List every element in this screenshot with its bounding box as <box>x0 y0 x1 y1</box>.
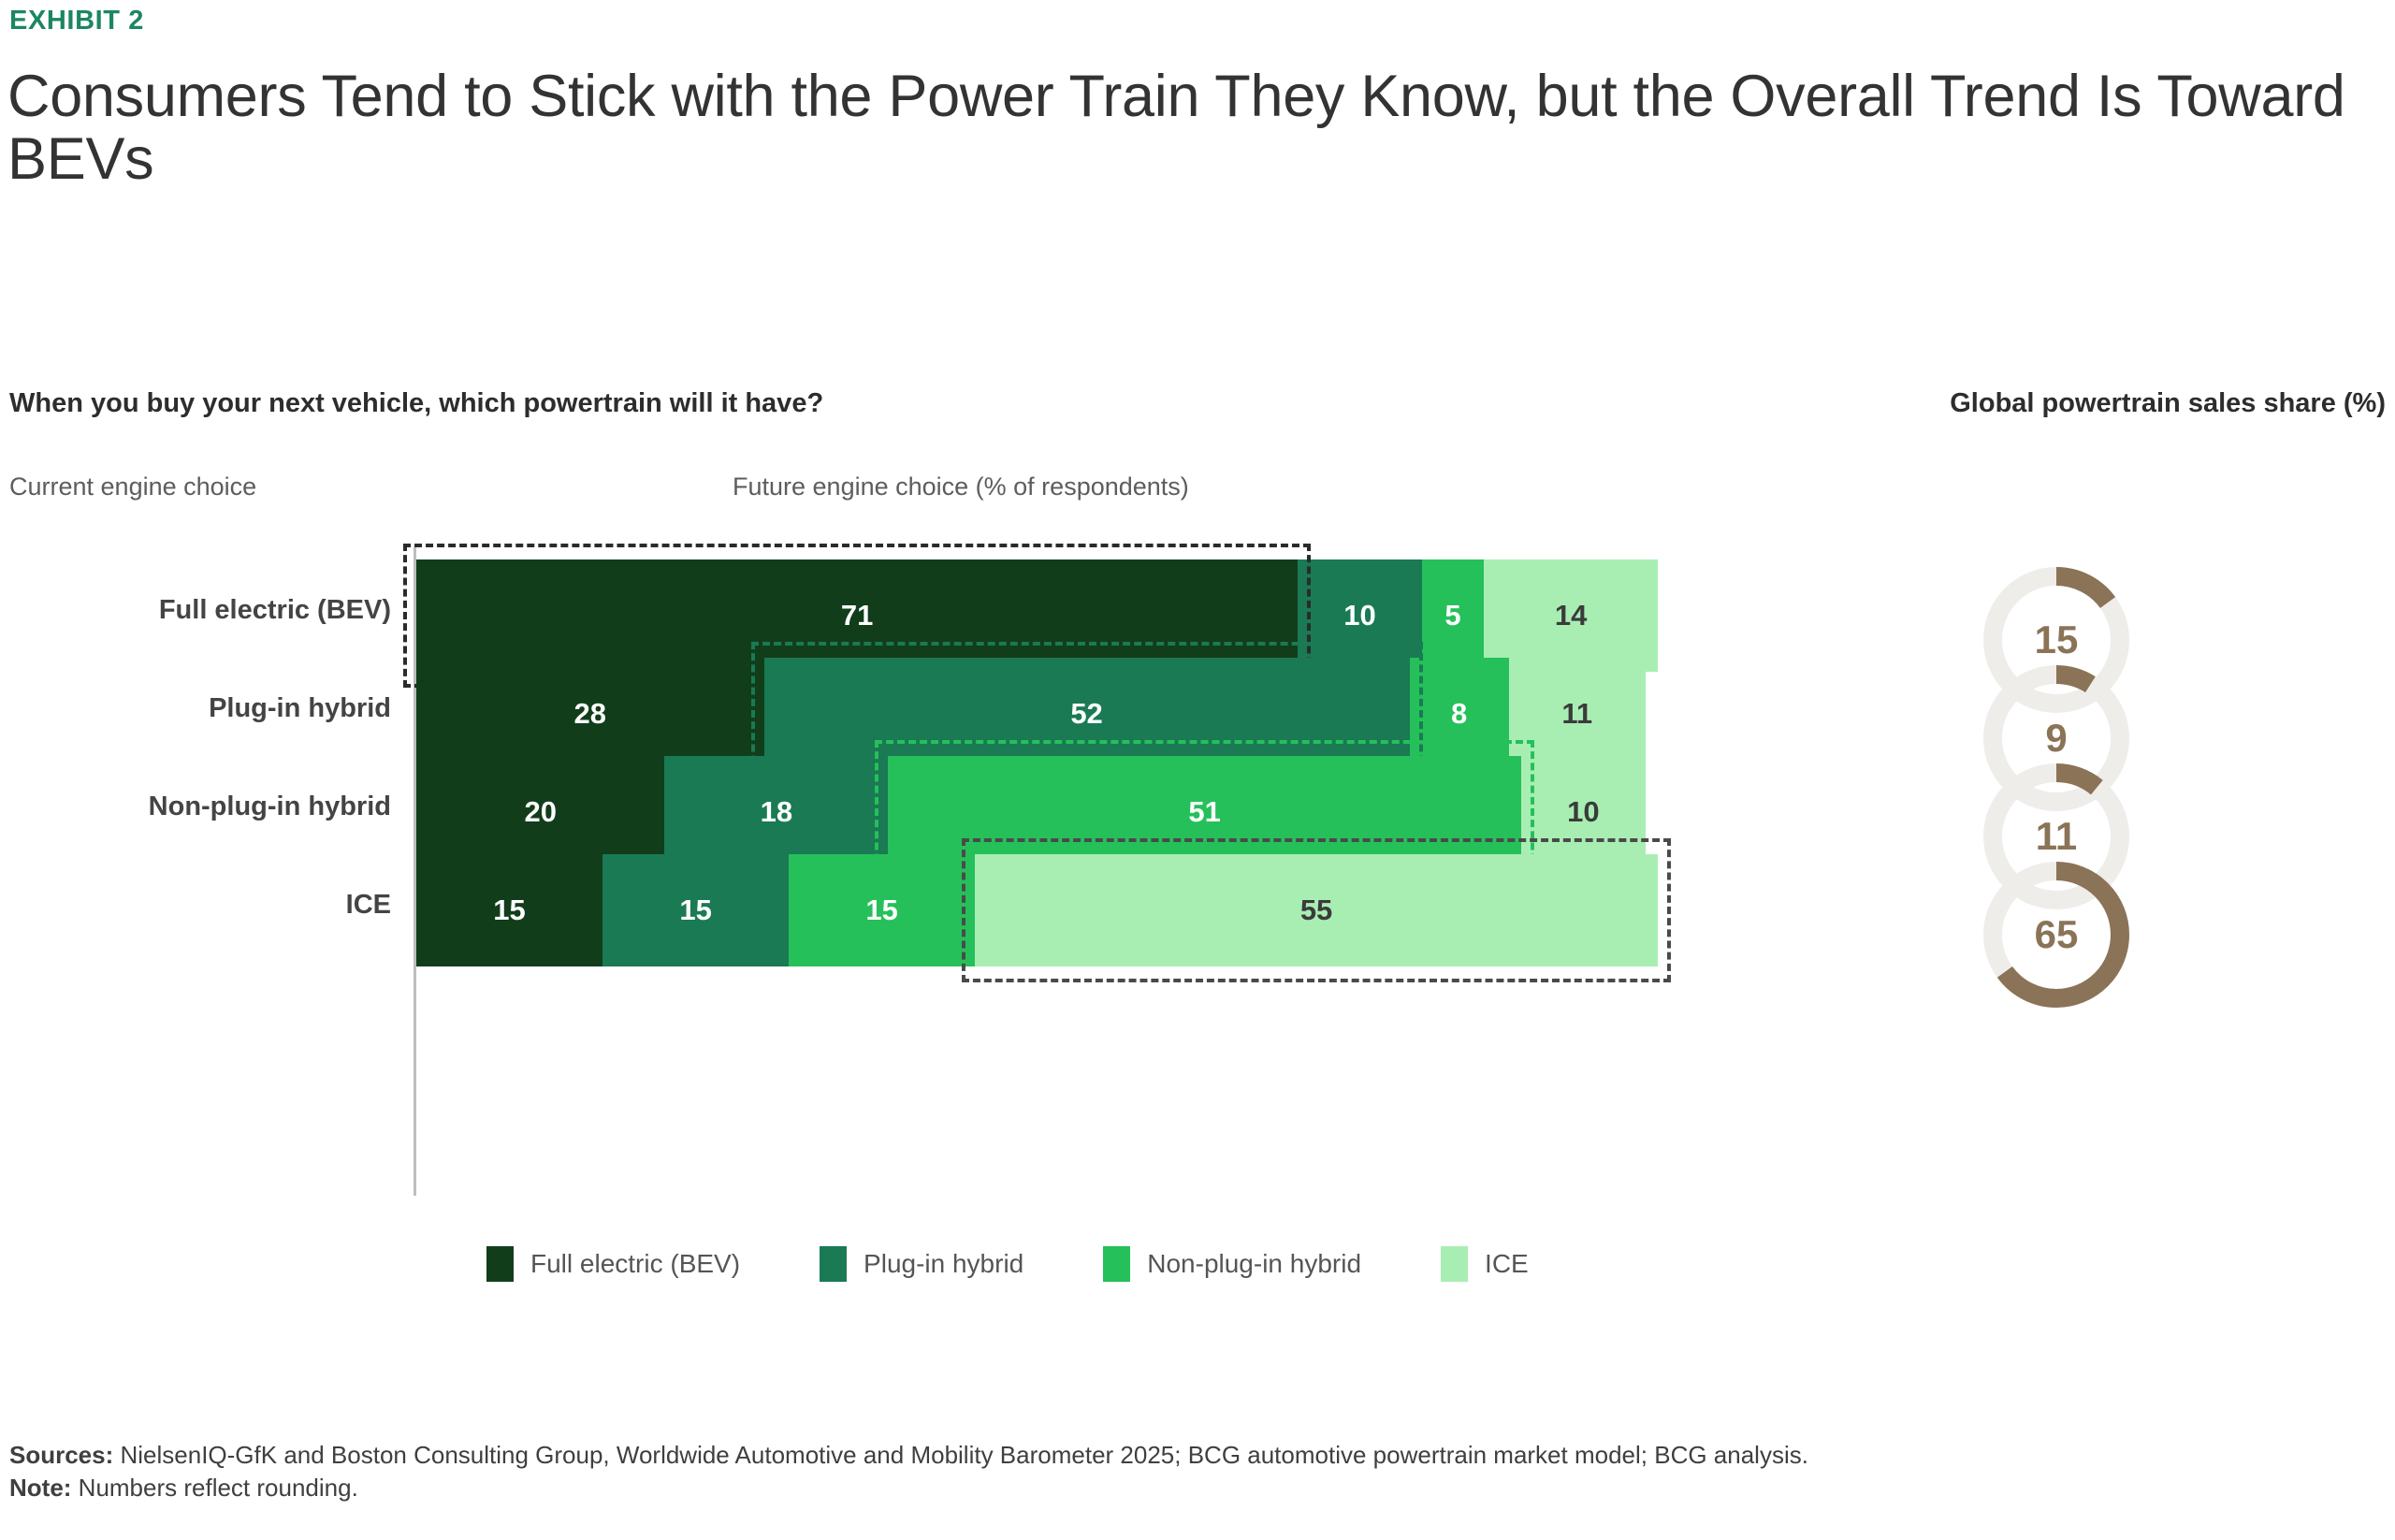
legend-label: Non-plug-in hybrid <box>1147 1249 1361 1279</box>
exhibit-label: EXHIBIT 2 <box>9 6 144 36</box>
bar-segment-value: 20 <box>524 795 556 829</box>
bar-segment-phev[interactable]: 52 <box>764 658 1410 770</box>
legend-swatch-icon <box>1441 1246 1468 1282</box>
bar-segment-ice[interactable]: 11 <box>1509 658 1646 770</box>
legend-swatch-icon <box>1103 1246 1130 1282</box>
bar-segment-value: 15 <box>679 893 711 927</box>
bar-segment-value: 52 <box>1070 697 1102 731</box>
bar-segment-value: 10 <box>1567 795 1599 829</box>
donut-value-label: 65 <box>1976 854 2137 1015</box>
bar-row: Plug-in hybrid2852811 <box>0 658 1778 770</box>
bar-segment-value: 14 <box>1555 599 1587 632</box>
bar-track: 15151555 <box>416 854 1658 966</box>
bar-segment-value: 28 <box>574 697 606 731</box>
donut-chart-4: 65 <box>1976 854 2137 1015</box>
legend-item-hev[interactable]: Non-plug-in hybrid <box>1103 1246 1361 1282</box>
sources-text: NielsenIQ-GfK and Boston Consulting Grou… <box>113 1441 1808 1469</box>
bar-segment-ice[interactable]: 55 <box>975 854 1658 966</box>
right-panel-heading: Global powertrain sales share (%) <box>1950 388 2386 419</box>
note-label: Note: <box>9 1474 71 1502</box>
bar-segment-hev[interactable]: 15 <box>789 854 975 966</box>
legend-item-phev[interactable]: Plug-in hybrid <box>820 1246 1023 1282</box>
legend-label: Full electric (BEV) <box>530 1249 740 1279</box>
bar-row-label: ICE <box>346 890 391 921</box>
global-sales-share-donuts: 1591165 <box>1955 543 2180 1198</box>
bar-track: 7110514 <box>416 559 1658 672</box>
footnotes: Sources: NielsenIQ-GfK and Boston Consul… <box>9 1439 2386 1504</box>
sources-label: Sources: <box>9 1441 113 1469</box>
bar-segment-ice[interactable]: 10 <box>1521 756 1646 868</box>
legend-item-ice[interactable]: ICE <box>1441 1246 1529 1282</box>
legend-swatch-icon <box>486 1246 514 1282</box>
bar-segment-ice[interactable]: 14 <box>1484 559 1658 672</box>
bar-segment-value: 15 <box>493 893 525 927</box>
bar-row-label: Full electric (BEV) <box>159 595 391 626</box>
bar-segment-value: 18 <box>761 795 792 829</box>
bar-segment-phev[interactable]: 15 <box>602 854 789 966</box>
bar-row: ICE15151555 <box>0 854 1778 966</box>
bar-segment-value: 11 <box>1561 697 1592 731</box>
left-panel-heading: When you buy your next vehicle, which po… <box>9 388 823 419</box>
note-text: Numbers reflect rounding. <box>71 1474 357 1502</box>
note-line: Note: Numbers reflect rounding. <box>9 1472 2386 1504</box>
stacked-bar-chart: Full electric (BEV)7110514Plug-in hybrid… <box>0 543 1778 1198</box>
bar-row: Non-plug-in hybrid20185110 <box>0 756 1778 868</box>
bar-segment-bev[interactable]: 15 <box>416 854 602 966</box>
legend-item-bev[interactable]: Full electric (BEV) <box>486 1246 740 1282</box>
legend-swatch-icon <box>820 1246 847 1282</box>
bar-segment-bev[interactable]: 71 <box>416 559 1298 672</box>
bar-track: 2852811 <box>416 658 1646 770</box>
current-engine-axis-label: Current engine choice <box>9 472 256 501</box>
bar-segment-value: 5 <box>1444 599 1460 632</box>
bar-row: Full electric (BEV)7110514 <box>0 559 1778 672</box>
bar-segment-hev[interactable]: 5 <box>1422 559 1484 672</box>
bar-segment-value: 51 <box>1188 795 1220 829</box>
bar-segment-phev[interactable]: 10 <box>1298 559 1422 672</box>
bar-segment-value: 71 <box>841 599 873 632</box>
bar-row-label: Non-plug-in hybrid <box>149 792 391 822</box>
bar-segment-value: 8 <box>1451 697 1467 731</box>
bar-row-label: Plug-in hybrid <box>209 693 391 724</box>
bar-segment-value: 55 <box>1300 893 1332 927</box>
legend-label: ICE <box>1485 1249 1529 1279</box>
chart-legend: Full electric (BEV)Plug-in hybridNon-plu… <box>486 1246 1608 1282</box>
future-engine-axis-label: Future engine choice (% of respondents) <box>733 472 1189 501</box>
bar-segment-value: 10 <box>1343 599 1375 632</box>
bar-segment-bev[interactable]: 20 <box>416 756 664 868</box>
bar-segment-phev[interactable]: 18 <box>664 756 888 868</box>
bar-segment-bev[interactable]: 28 <box>416 658 764 770</box>
sources-line: Sources: NielsenIQ-GfK and Boston Consul… <box>9 1439 2386 1472</box>
bar-segment-hev[interactable]: 51 <box>888 756 1521 868</box>
legend-label: Plug-in hybrid <box>864 1249 1023 1279</box>
page-title: Consumers Tend to Stick with the Power T… <box>7 65 2346 191</box>
bar-segment-value: 15 <box>865 893 897 927</box>
bar-segment-hev[interactable]: 8 <box>1410 658 1509 770</box>
bar-track: 20185110 <box>416 756 1646 868</box>
